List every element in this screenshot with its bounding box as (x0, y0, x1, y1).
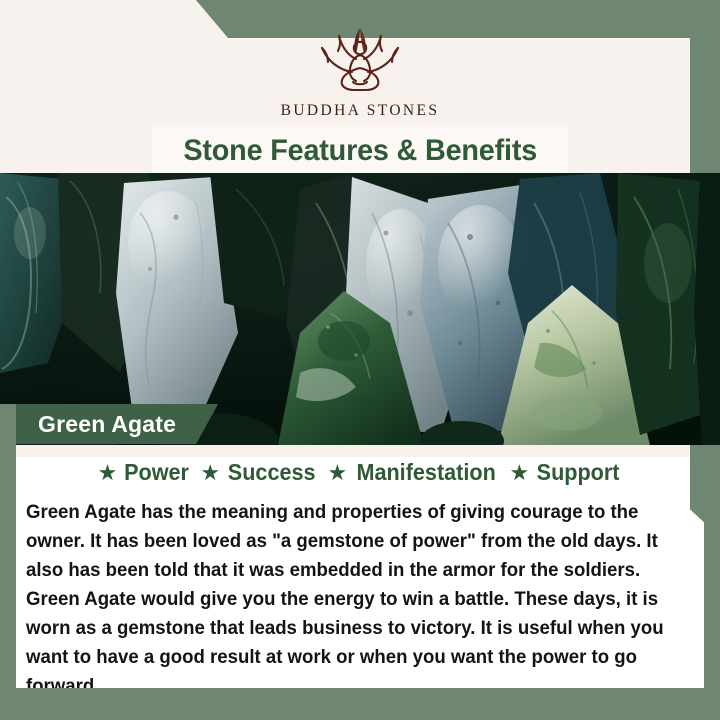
feature-label: Success (228, 459, 316, 486)
feature-label: Support (537, 459, 620, 486)
feature-label: Manifestation (357, 459, 496, 486)
star-icon: ★ (509, 462, 529, 484)
star-icon: ★ (328, 462, 348, 484)
feature-item-power: ★ Power (98, 459, 192, 486)
brand-logo: BUDDHA STONES (0, 24, 720, 120)
stone-name-plate: Green Agate (16, 404, 218, 444)
lotus-meditation-icon (308, 24, 412, 98)
stone-name: Green Agate (38, 411, 176, 438)
star-icon: ★ (98, 462, 118, 484)
star-icon: ★ (200, 462, 220, 484)
stone-info-card: BUDDHA STONES Stone Features & Benefits (0, 0, 720, 720)
page-title: Stone Features & Benefits (183, 134, 537, 168)
description-panel-cream-strip (16, 445, 704, 457)
feature-item-support: ★ Support (509, 459, 622, 486)
stone-description: Green Agate has the meaning and properti… (26, 498, 674, 701)
left-green-rail (0, 404, 16, 688)
page-title-band: Stone Features & Benefits (152, 127, 568, 174)
feature-item-success: ★ Success (200, 459, 318, 486)
feature-list: ★ Power ★ Success ★ Manifestation ★ Supp… (16, 459, 704, 486)
feature-item-manifestation: ★ Manifestation (328, 459, 501, 486)
brand-name: BUDDHA STONES (281, 102, 440, 120)
feature-label: Power (124, 459, 189, 486)
